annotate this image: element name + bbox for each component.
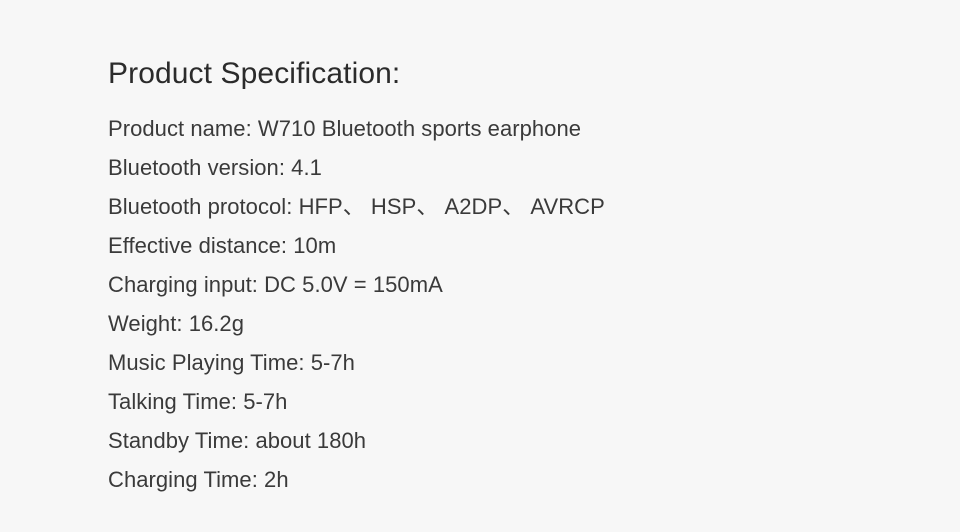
- list-item: Talking Time: 5-7h: [108, 382, 928, 421]
- list-item: Effective distance: 10m: [108, 226, 928, 265]
- list-item: Bluetooth version: 4.1: [108, 148, 928, 187]
- specification-list: Product name: W710 Bluetooth sports earp…: [108, 89, 928, 499]
- product-specification-panel: Product Specification: Product name: W71…: [108, 0, 928, 499]
- list-item: Product name: W710 Bluetooth sports earp…: [108, 109, 928, 148]
- list-item: Charging Time: 2h: [108, 460, 928, 499]
- list-item: Bluetooth protocol: HFP、 HSP、 A2DP、 AVRC…: [108, 187, 928, 226]
- list-item: Music Playing Time: 5-7h: [108, 343, 928, 382]
- page-title: Product Specification:: [108, 0, 928, 89]
- list-item: Standby Time: about 180h: [108, 421, 928, 460]
- list-item: Weight: 16.2g: [108, 304, 928, 343]
- list-item: Charging input: DC 5.0V = 150mA: [108, 265, 928, 304]
